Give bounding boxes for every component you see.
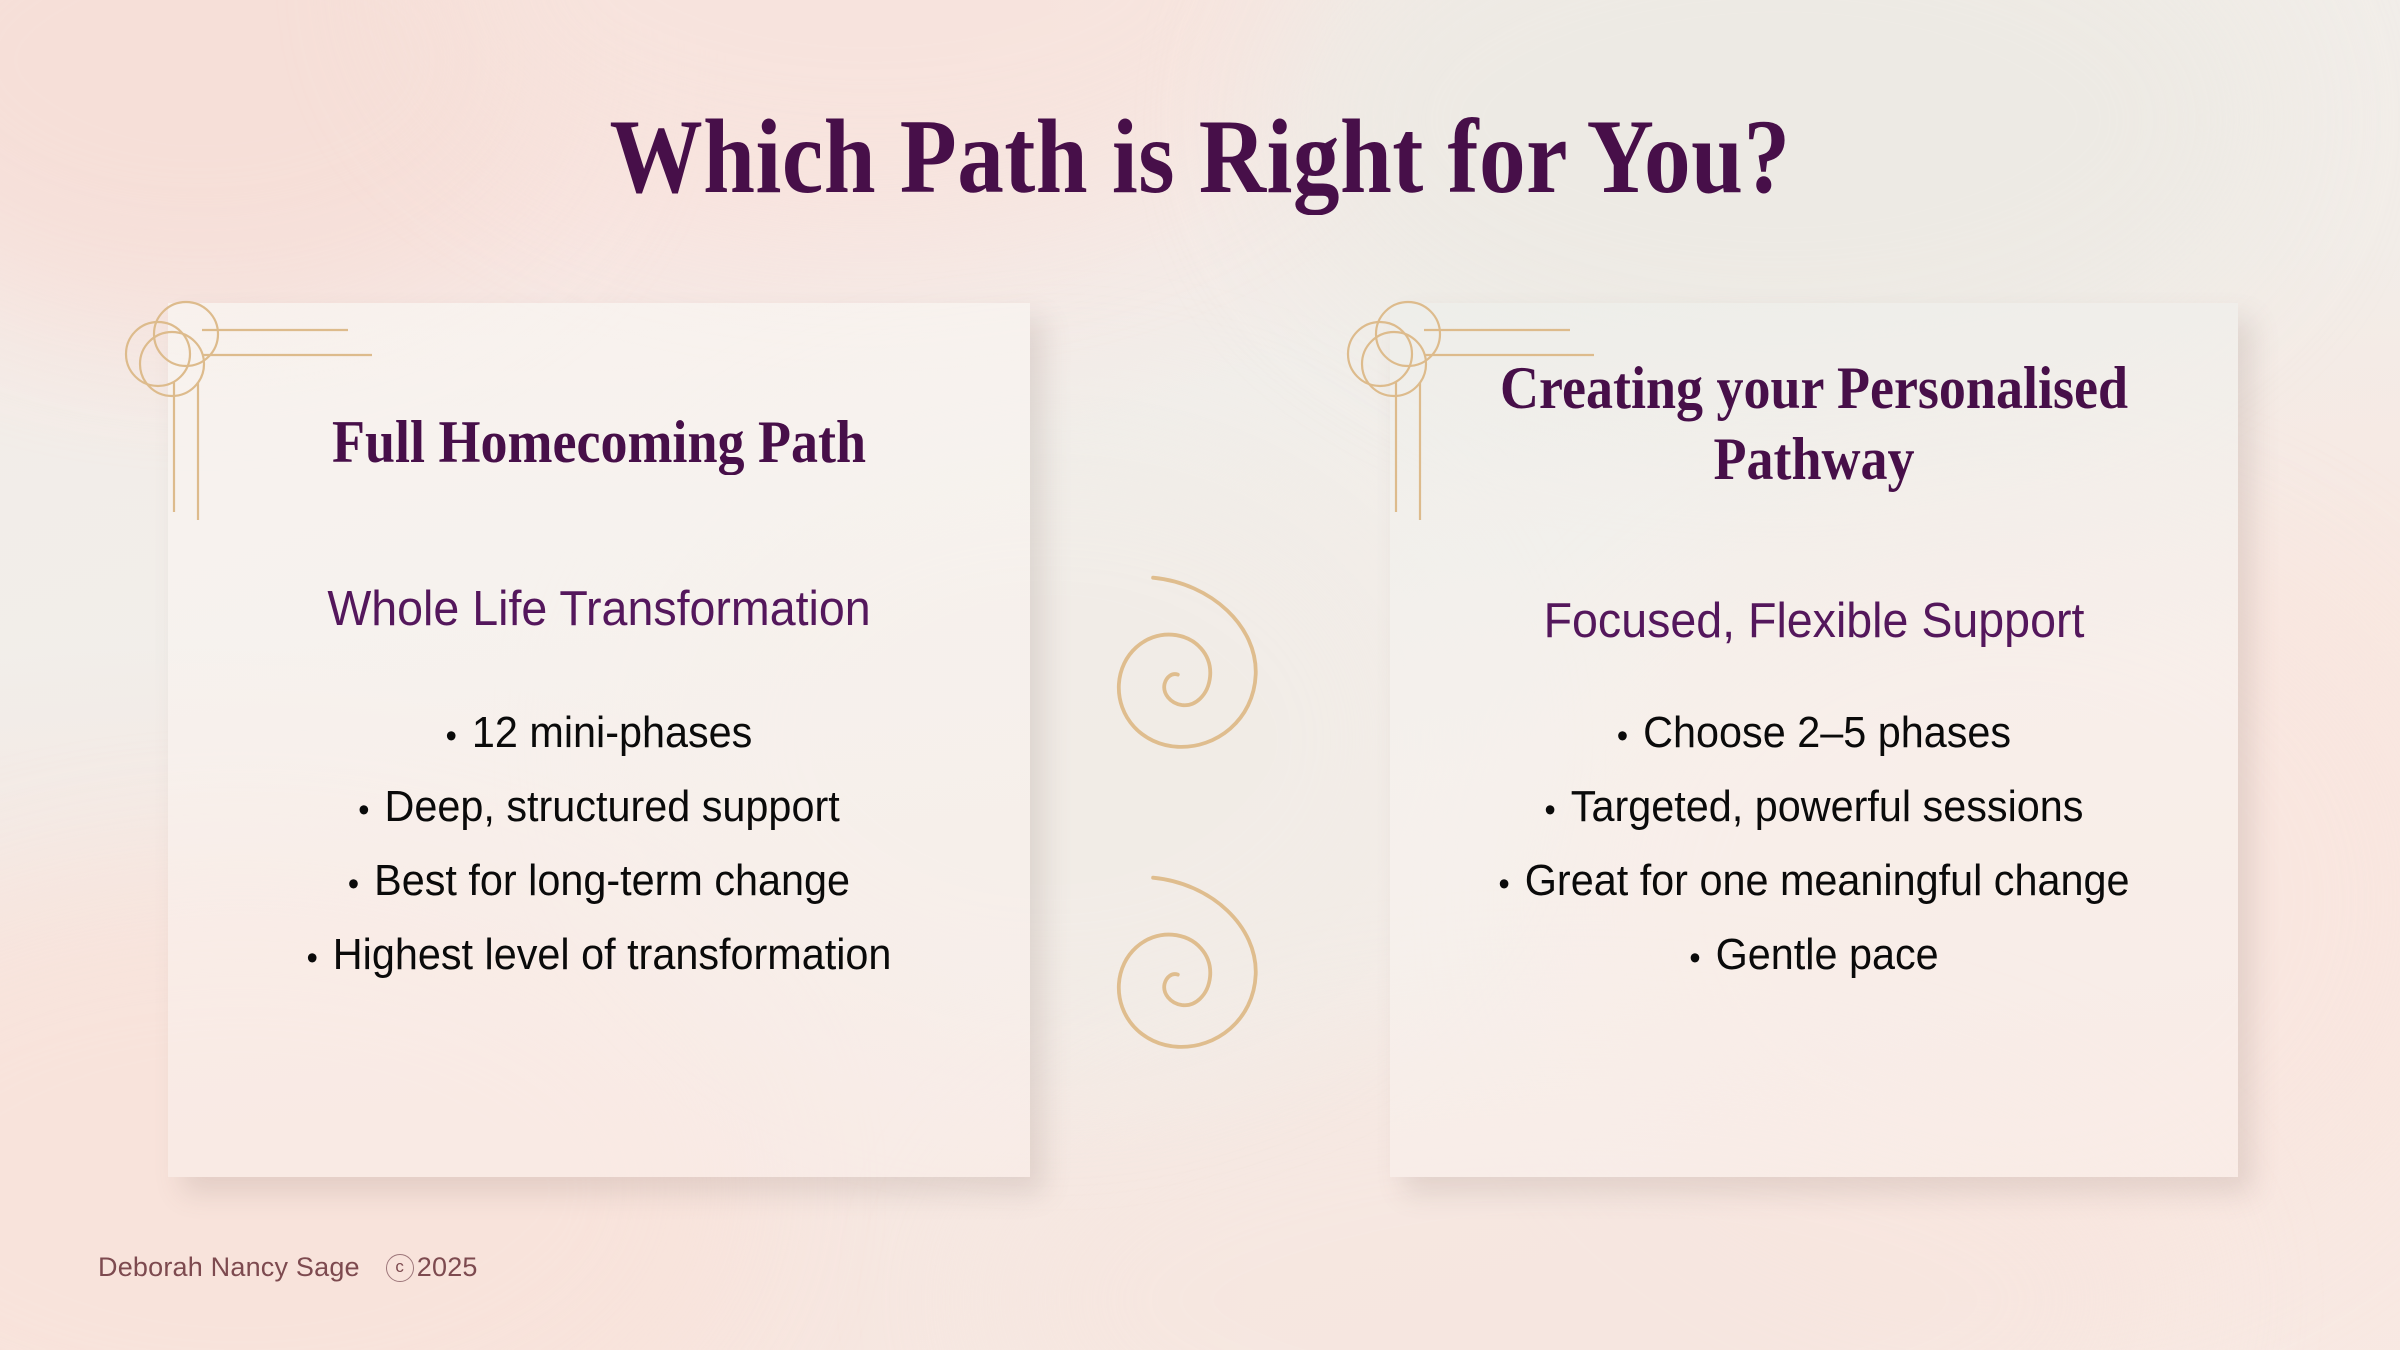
card-subtitle: Whole Life Transformation: [190, 581, 1009, 637]
list-item: • Gentle pace: [1415, 931, 2212, 979]
list-item: • Targeted, powerful sessions: [1415, 783, 2212, 831]
card-heading: Full Homecoming Path: [211, 407, 987, 478]
bullet-dot-icon: •: [307, 941, 318, 975]
path-card-full-homecoming: Full Homecoming Path Whole Life Transfor…: [168, 303, 1030, 1177]
list-item-label: Great for one meaningful change: [1525, 857, 2130, 905]
bullet-dot-icon: •: [1545, 793, 1556, 827]
list-item-label: Choose 2–5 phases: [1643, 709, 2011, 757]
list-item: • 12 mini-phases: [194, 709, 1004, 757]
list-item-label: Deep, structured support: [385, 783, 840, 831]
copyright-year: 2025: [417, 1252, 478, 1283]
path-card-personalised-pathway: Creating your Personalised Pathway Focus…: [1390, 303, 2238, 1177]
bullet-dot-icon: •: [1617, 719, 1628, 753]
list-item: • Great for one meaningful change: [1415, 857, 2212, 905]
slide-canvas: Which Path is Right for You? Full Homeco…: [0, 0, 2400, 1350]
list-item-label: Best for long-term change: [374, 857, 850, 905]
list-item-label: Highest level of transformation: [333, 931, 892, 979]
copyright-notice: c 2025: [386, 1252, 478, 1283]
list-item: • Best for long-term change: [194, 857, 1004, 905]
card-subtitle: Focused, Flexible Support: [1411, 593, 2217, 649]
card-bullet-list: • Choose 2–5 phases • Targeted, powerful…: [1390, 709, 2238, 1005]
page-title: Which Path is Right for You?: [144, 104, 2256, 210]
footer-author: Deborah Nancy Sage: [98, 1252, 360, 1283]
list-item-label: 12 mini-phases: [472, 709, 752, 757]
list-item-label: Gentle pace: [1716, 931, 1939, 979]
list-item: • Choose 2–5 phases: [1415, 709, 2212, 757]
bullet-dot-icon: •: [348, 867, 359, 901]
list-item-label: Targeted, powerful sessions: [1571, 783, 2084, 831]
card-heading: Creating your Personalised Pathway: [1432, 353, 2195, 495]
bullet-dot-icon: •: [358, 793, 369, 827]
bullet-dot-icon: •: [446, 719, 457, 753]
card-bullet-list: • 12 mini-phases • Deep, structured supp…: [168, 709, 1030, 1005]
footer-credit: Deborah Nancy Sage c 2025: [98, 1252, 478, 1283]
list-item: • Deep, structured support: [194, 783, 1004, 831]
bullet-dot-icon: •: [1689, 941, 1700, 975]
bullet-dot-icon: •: [1499, 867, 1510, 901]
copyright-icon: c: [386, 1254, 414, 1282]
list-item: • Highest level of transformation: [194, 931, 1004, 979]
